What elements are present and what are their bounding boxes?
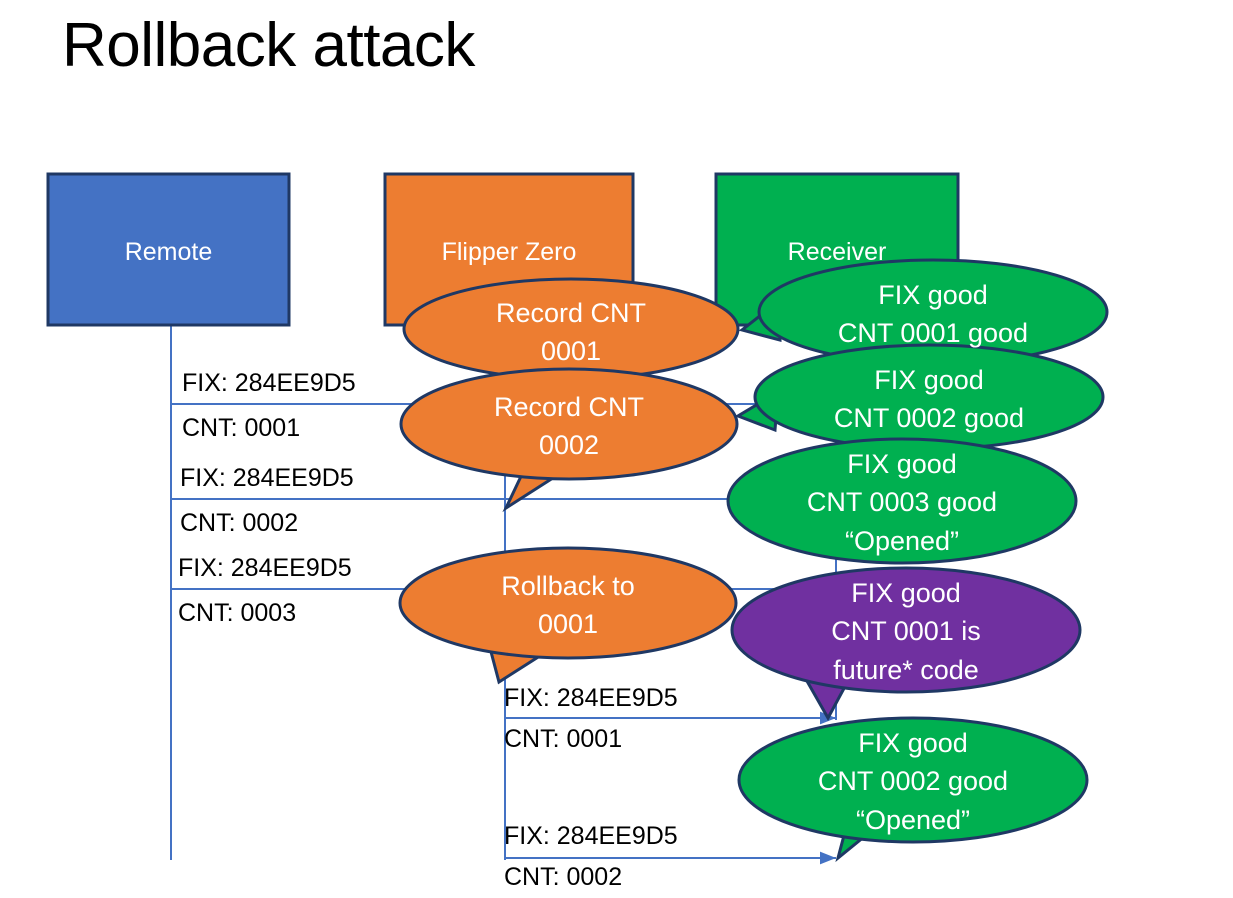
message-label-1-cnt: CNT: 0001 <box>182 414 300 443</box>
bubble-shape-rollback-to-0001[interactable] <box>400 548 736 682</box>
message-label-3-fix: FIX: 284EE9D5 <box>178 554 352 583</box>
bubble-shape-record-cnt-0001[interactable] <box>404 279 738 379</box>
slide-canvas: Rollback attack <box>0 0 1233 898</box>
lane-label-receiver: Receiver <box>716 238 958 267</box>
lane-label-flipper-zero: Flipper Zero <box>385 238 633 267</box>
message-label-5-fix: FIX: 284EE9D5 <box>504 822 678 851</box>
message-label-3-cnt: CNT: 0003 <box>178 599 296 628</box>
bubble-shape-receiver-cnt-0002-opened[interactable] <box>739 718 1087 858</box>
message-label-2-fix: FIX: 284EE9D5 <box>180 464 354 493</box>
bubble-shape-receiver-cnt-0003-opened[interactable] <box>728 439 1076 563</box>
message-label-2-cnt: CNT: 0002 <box>180 509 298 538</box>
bubble-shape-receiver-cnt-0001-future[interactable] <box>732 568 1080 718</box>
message-label-4-cnt: CNT: 0001 <box>504 725 622 754</box>
message-label-4-fix: FIX: 284EE9D5 <box>504 684 678 713</box>
bubble-shape-receiver-cnt-0002-good[interactable] <box>738 345 1103 449</box>
diagram-vector-layer <box>0 0 1233 898</box>
message-label-1-fix: FIX: 284EE9D5 <box>182 369 356 398</box>
message-label-5-cnt: CNT: 0002 <box>504 863 622 892</box>
bubble-shape-record-cnt-0002[interactable] <box>401 369 737 508</box>
lane-label-remote: Remote <box>48 238 289 267</box>
